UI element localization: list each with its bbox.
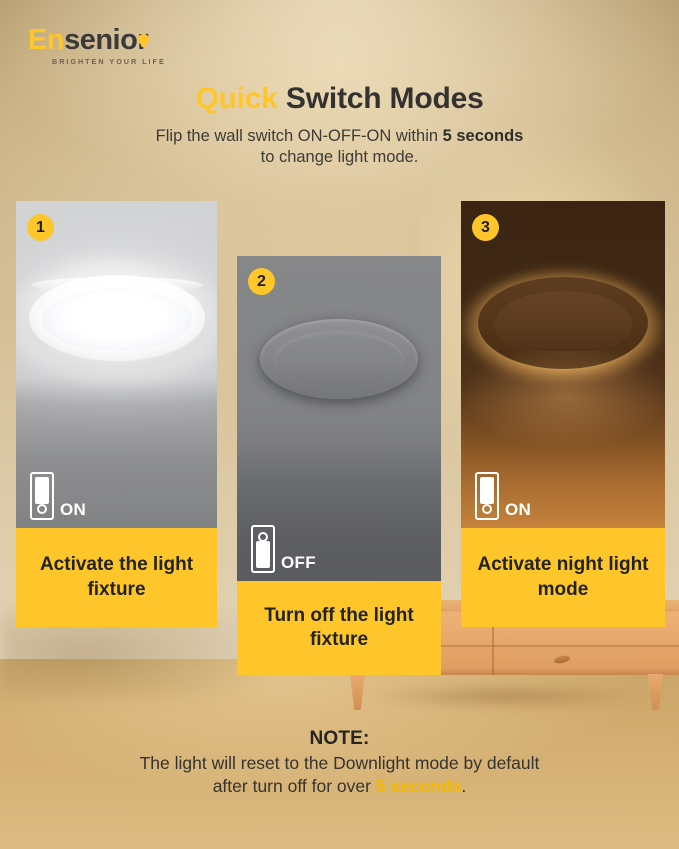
page-title: Quick Switch Modes [0,82,679,116]
brand-logo: Ensenior BRIGHTEN YOUR LIFE [28,24,178,70]
switch-plate [475,472,499,520]
lightbulb-icon [137,34,150,47]
ceiling-light-fixture [29,275,205,361]
switch-plate [251,525,275,573]
note-line2-a: after turn off for over [213,776,376,796]
note-section: NOTE: The light will reset to the Downli… [0,728,679,798]
step-3-photo: 3 ON [461,201,665,528]
note-line2-b: . [461,776,466,796]
subtitle-line1-a: Flip the wall switch ON-OFF-ON within [156,127,443,145]
switch-lever [35,477,50,504]
switch-indicator-dot [258,532,268,542]
fixture-lens-night [494,291,632,357]
title-rest: Switch Modes [278,82,484,115]
step-badge-3: 3 [472,214,499,241]
switch-indicator-dot [37,504,47,514]
note-highlight: 5 seconds [376,776,462,796]
switch-state-label: ON [60,501,86,520]
subtitle-line2: to change light mode. [261,148,419,166]
step-2-caption: Turn off the light fixture [237,581,441,675]
ceiling-light-fixture [260,319,418,399]
logo-text-senior: senior [64,24,148,56]
switch-state-label: OFF [281,554,316,573]
fixture-lens-unlit [274,331,404,389]
page-subtitle: Flip the wall switch ON-OFF-ON within 5 … [0,126,679,168]
bulb-base [141,43,146,47]
infographic-canvas: Ensenior BRIGHTEN YOUR LIFE Quick Switch… [0,0,679,849]
switch-indicator-dot [482,504,492,514]
brand-tagline: BRIGHTEN YOUR LIFE [52,57,166,66]
furniture-shadow [316,686,679,712]
step-3-caption: Activate night light mode [461,528,665,627]
switch-state-label: ON [505,501,531,520]
note-line1: The light will reset to the Downlight mo… [140,753,540,773]
step-2-photo: 2 OFF [237,256,441,581]
step-badge-2: 2 [248,268,275,295]
logo-text-en: En [28,24,64,56]
title-highlight: Quick [195,82,277,115]
switch-lever [480,477,495,504]
switch-plate [30,472,54,520]
step-1-caption: Activate the light fixture [16,528,217,627]
switch-lever [256,541,271,568]
wall-switch-on-3: ON [475,472,531,520]
step-1-photo: 1 ON [16,201,217,528]
note-title: NOTE: [0,728,679,750]
note-body: The light will reset to the Downlight mo… [0,752,679,798]
subtitle-line1-emphasis: 5 seconds [443,127,524,145]
logo-wordmark: Ensenior [28,26,148,55]
wall-switch-on-1: ON [30,472,86,520]
wall-switch-off-2: OFF [251,525,316,573]
step-badge-1: 1 [27,214,54,241]
fixture-lens-lit [42,289,192,350]
